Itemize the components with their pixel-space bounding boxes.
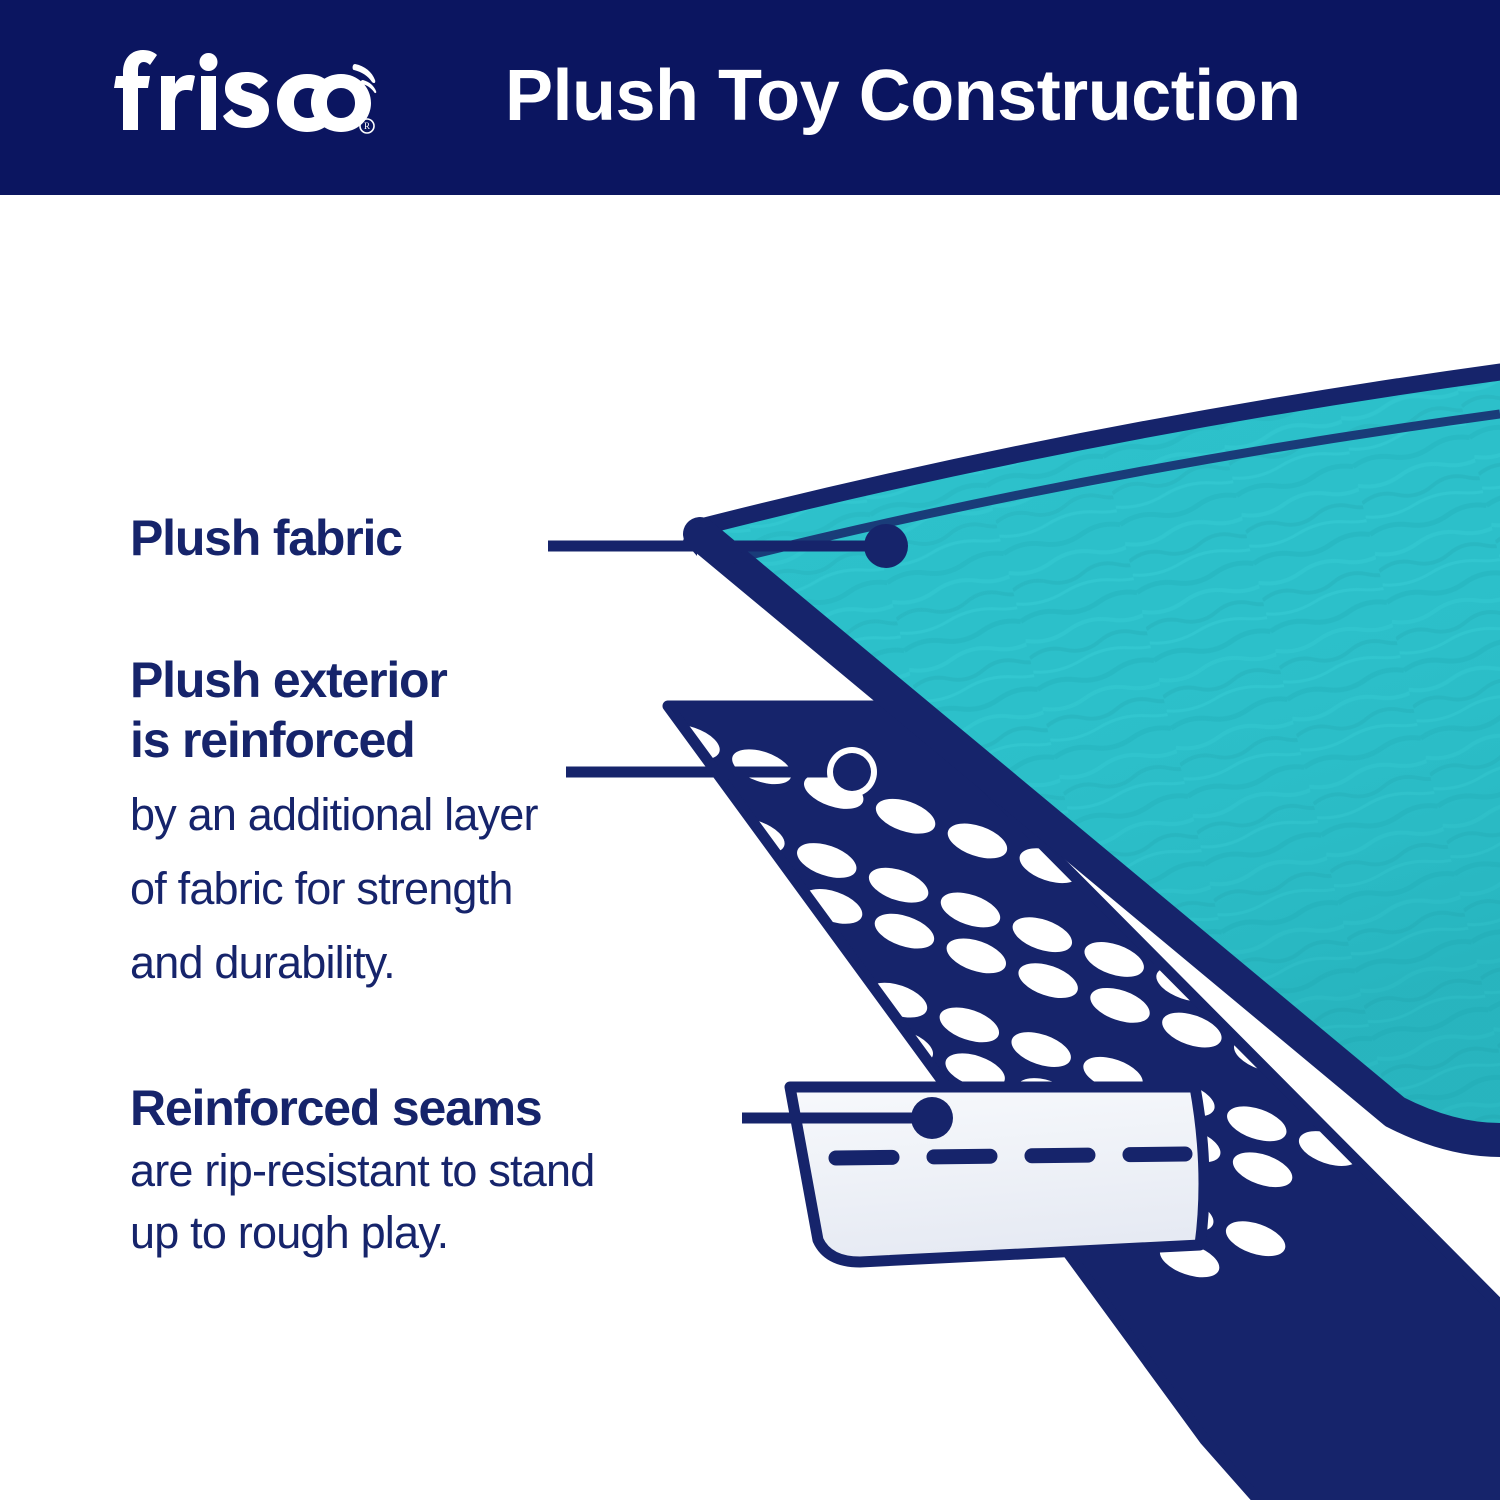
callout-plush-exterior-heading-line-1: Plush exterior [130, 650, 538, 710]
callout-plush-exterior-heading-line-2: is reinforced [130, 710, 538, 770]
reinforced-seam-flap [790, 1087, 1204, 1262]
mesh-band-outline [668, 706, 1500, 1500]
callout-reinforced-seams: Reinforced seams are rip-resistant to st… [130, 1078, 594, 1262]
callout-dot-plush-fabric [864, 524, 908, 568]
callout-plush-exterior: Plush exterior is reinforced by an addit… [130, 650, 538, 992]
reinforcement-mesh-layer [600, 650, 1500, 1500]
callout-dot-plush-exterior [833, 753, 871, 791]
callout-plush-exterior-body-line-1: by an additional layer [130, 786, 538, 844]
plush-fabric-panel [683, 372, 1500, 1140]
callout-reinforced-seams-heading: Reinforced seams [130, 1078, 594, 1138]
callout-reinforced-seams-body-line-2: up to rough play. [130, 1204, 594, 1262]
svg-text:R: R [364, 121, 370, 131]
fabric-inner-hem [730, 414, 1500, 560]
page-title: Plush Toy Construction [505, 48, 1301, 144]
callout-plush-exterior-body-line-2: of fabric for strength [130, 860, 538, 918]
callout-leaders [548, 524, 953, 1139]
callout-plush-fabric: Plush fabric [130, 508, 402, 568]
callout-reinforced-seams-body-line-1: are rip-resistant to stand [130, 1142, 594, 1200]
fabric-fold-edge [700, 534, 1500, 1140]
frisco-logo: R [83, 38, 383, 148]
callout-dot-reinforced-seams [911, 1097, 953, 1139]
fabric-top-hem [697, 372, 1500, 528]
callout-plush-exterior-body-line-3: and durability. [130, 934, 538, 992]
header-bar: R Plush Toy Construction [0, 0, 1500, 195]
callout-plush-fabric-heading: Plush fabric [130, 508, 402, 568]
callout-dot-halo-plush-exterior [827, 747, 877, 797]
infographic-page: R Plush Toy Construction [0, 0, 1500, 1500]
stitch-dashed-line [836, 1154, 1185, 1158]
